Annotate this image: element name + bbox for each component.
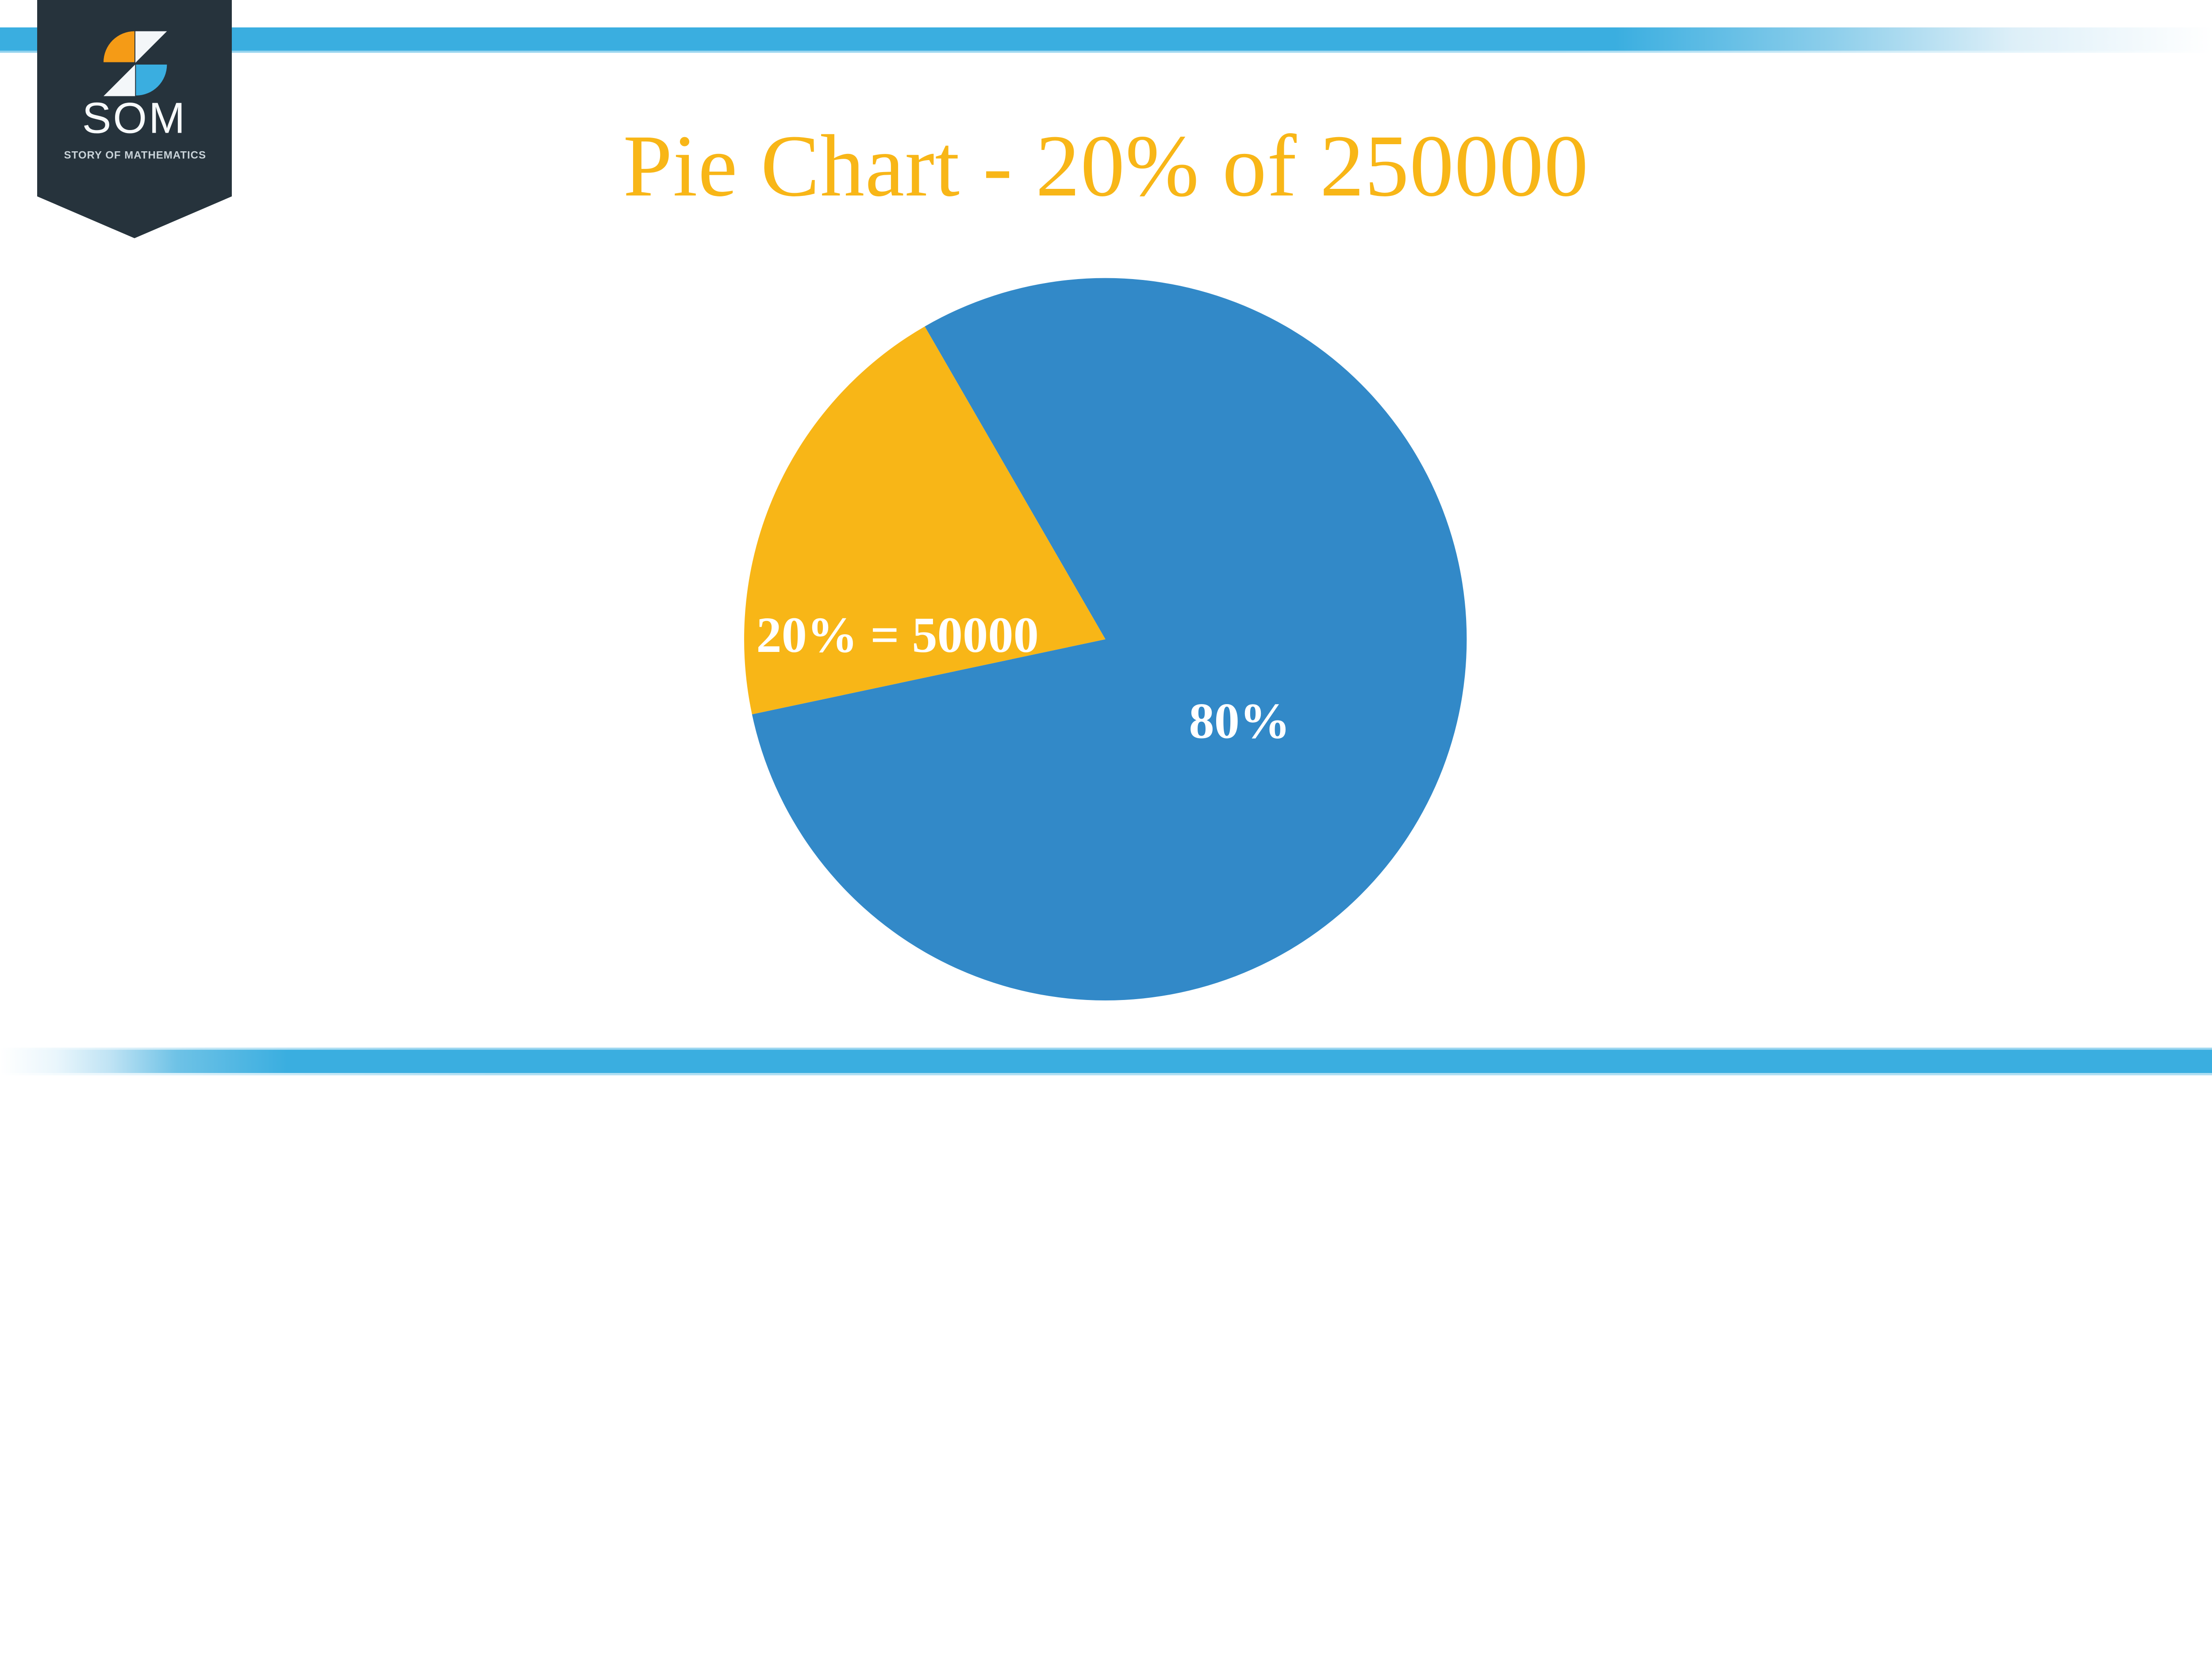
bottom-accent-bar — [0, 1050, 2212, 1073]
logo-tagline: STORY OF MATHEMATICS — [64, 149, 206, 161]
page-title: Pie Chart - 20% of 250000 — [0, 118, 2212, 214]
logo-wordmark: SOM — [82, 94, 187, 142]
pie-chart: 20% = 50000 80% — [744, 278, 1467, 1000]
som-logo-banner[interactable]: SOM STORY OF MATHEMATICS — [37, 0, 232, 238]
slide-canvas: SOM STORY OF MATHEMATICS Pie Chart - 20%… — [0, 0, 2212, 1106]
pie-slice-remainder-label: 80% — [1189, 693, 1290, 749]
top-accent-bar — [0, 27, 2212, 51]
pie-slice-part-label: 20% = 50000 — [756, 607, 1039, 663]
